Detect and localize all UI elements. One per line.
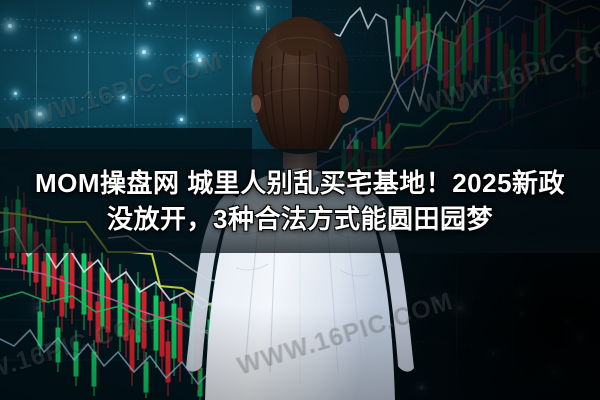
headline-line-1: MOM操盘网 城里人别乱买宅基地！2025新政 — [35, 166, 565, 200]
image-canvas: WWW.16PIC.COM WWW.16PIC.COM WWW.16PIC.CO… — [0, 0, 600, 400]
headline-block: MOM操盘网 城里人别乱买宅基地！2025新政 没放开，3种合法方式能圆田园梦 — [0, 149, 600, 253]
headline-line-2: 没放开，3种合法方式能圆田园梦 — [107, 202, 493, 236]
